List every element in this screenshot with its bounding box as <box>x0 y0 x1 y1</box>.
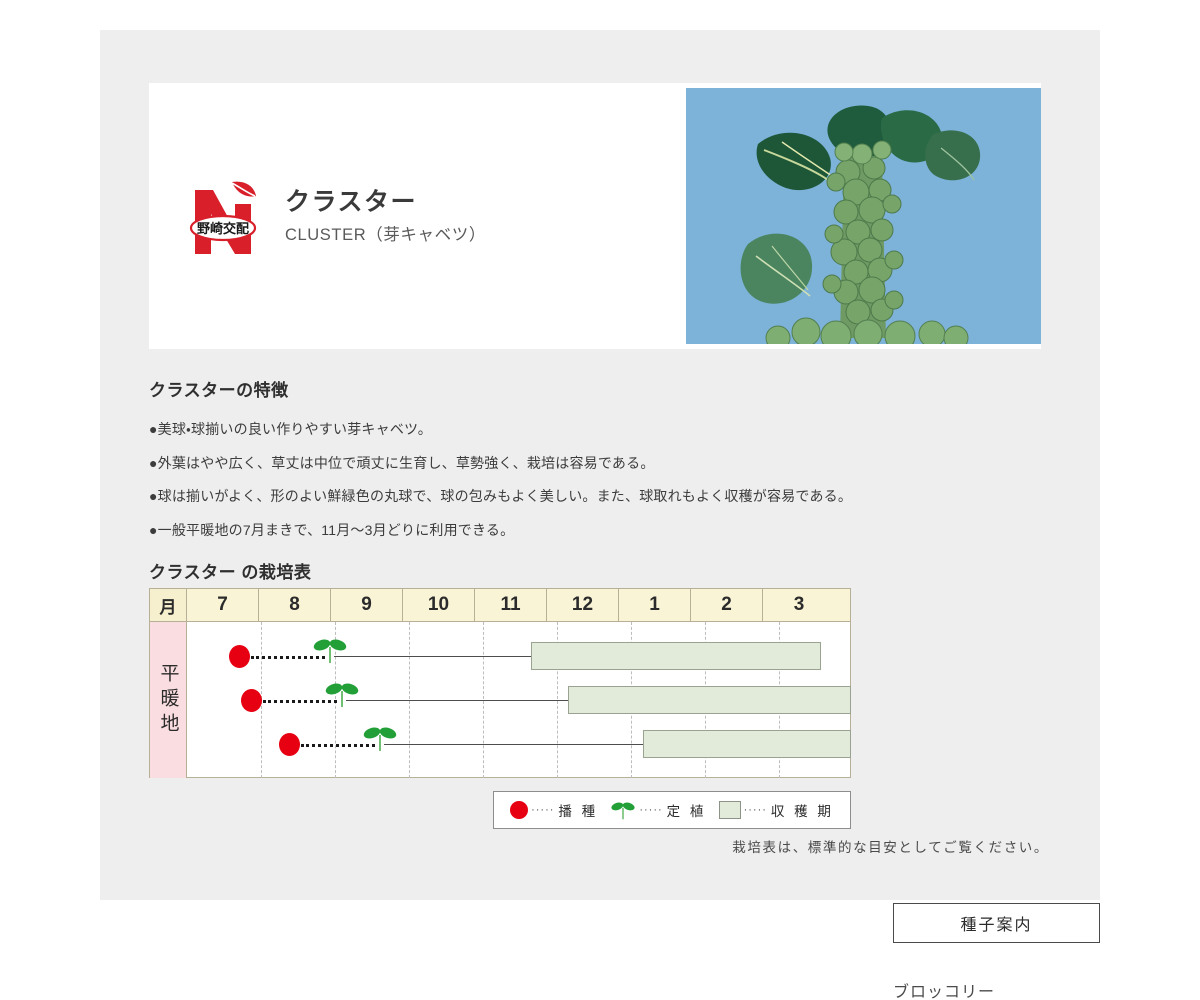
seedling-icon <box>363 724 397 752</box>
footer-category-link[interactable]: ブロッコリー <box>893 978 995 1000</box>
month-header-cell: 10 <box>403 589 475 621</box>
cultivation-schedule-table: 月 7 8 9 10 11 12 1 2 3 平暖地 <box>149 588 851 778</box>
table-corner-label: 月 <box>150 589 187 621</box>
planting-marker <box>313 636 347 664</box>
features-heading: クラスターの特徴 <box>149 376 1049 401</box>
planting-marker <box>363 724 397 752</box>
feature-item: ●外葉はやや広く、草丈は中位で頑丈に生育し、草勢強く、栽培は容易である。 <box>149 453 1049 475</box>
hero-brand-block: 野崎交配 クラスター CLUSTER（芽キャベツ） <box>149 83 686 349</box>
planting-marker <box>325 680 359 708</box>
growth-line <box>346 700 568 701</box>
month-header-cell: 2 <box>691 589 763 621</box>
schedule-row <box>187 678 851 722</box>
features-section: クラスターの特徴 ●美球・球揃いの良い作りやすい芽キャベツ。 ●外葉はやや広く、… <box>149 376 1049 554</box>
legend-label: 収 穫 期 <box>771 800 834 820</box>
sowing-marker <box>229 645 250 668</box>
harvest-bar <box>568 686 851 714</box>
brand-titles: クラスター CLUSTER（芽キャベツ） <box>285 186 486 246</box>
seedling-icon <box>325 680 359 708</box>
harvest-bar <box>643 730 851 758</box>
schedule-plot-area <box>187 622 851 778</box>
growth-line <box>384 744 643 745</box>
month-header-cell: 1 <box>619 589 691 621</box>
seedling-icon <box>610 800 636 820</box>
table-header-row: 月 7 8 9 10 11 12 1 2 3 <box>150 589 850 622</box>
harvest-bar <box>531 642 821 670</box>
month-header-cell: 3 <box>763 589 835 621</box>
feature-item: ●球は揃いがよく、形のよい鮮緑色の丸球で、球の包みもよく美しい。また、球取れもよ… <box>149 486 1049 508</box>
month-header-cell: 11 <box>475 589 547 621</box>
month-header-cell: 12 <box>547 589 619 621</box>
schedule-note: 栽培表は、標準的な目安としてご覧ください。 <box>0 836 1049 856</box>
brussels-sprouts-illustration <box>686 88 1041 344</box>
legend-dashes: ····· <box>744 804 767 816</box>
legend-dashes: ····· <box>531 804 554 816</box>
product-name-en: CLUSTER（芽キャベツ） <box>285 225 486 246</box>
legend-label: 定 植 <box>667 800 707 820</box>
nozaki-logo-icon: 野崎交配 <box>185 174 263 258</box>
product-name-jp: クラスター <box>285 186 486 219</box>
legend-dashes: ····· <box>639 804 662 816</box>
region-label: 平暖地 <box>159 663 178 738</box>
schedule-heading: クラスター の栽培表 <box>149 558 311 583</box>
page-root: 野崎交配 クラスター CLUSTER（芽キャベツ） <box>0 0 1200 1000</box>
growth-line <box>334 656 531 657</box>
feature-item: ●一般平暖地の7月まきで、11月〜3月どりに利用できる。 <box>149 520 1049 542</box>
schedule-legend: ····· 播 種 ····· 定 植 ····· 収 穫 期 <box>493 791 851 829</box>
seedling-icon <box>313 636 347 664</box>
region-row-header: 平暖地 <box>150 622 187 778</box>
product-hero-card: 野崎交配 クラスター CLUSTER（芽キャベツ） <box>149 83 1041 349</box>
sowing-marker <box>279 733 300 756</box>
legend-item-harvest: ····· 収 穫 期 <box>719 800 834 820</box>
month-header-cell: 8 <box>259 589 331 621</box>
sowing-marker <box>241 689 262 712</box>
month-header-cell: 7 <box>187 589 259 621</box>
seed-guide-button[interactable]: 種子案内 <box>893 903 1100 943</box>
table-body: 平暖地 <box>150 622 850 778</box>
legend-item-planting: ····· 定 植 <box>610 800 706 820</box>
nozaki-logo: 野崎交配 <box>185 174 263 258</box>
legend-label: 播 種 <box>558 800 598 820</box>
red-circle-icon <box>510 801 528 819</box>
feature-item: ●美球・球揃いの良い作りやすい芽キャベツ。 <box>149 419 1049 441</box>
green-box-icon <box>719 801 741 819</box>
schedule-row <box>187 634 851 678</box>
month-header-cell: 9 <box>331 589 403 621</box>
product-photo <box>686 88 1041 344</box>
schedule-row <box>187 722 851 766</box>
legend-item-sowing: ····· 播 種 <box>510 800 598 820</box>
nozaki-logo-badge-text: 野崎交配 <box>197 221 249 236</box>
